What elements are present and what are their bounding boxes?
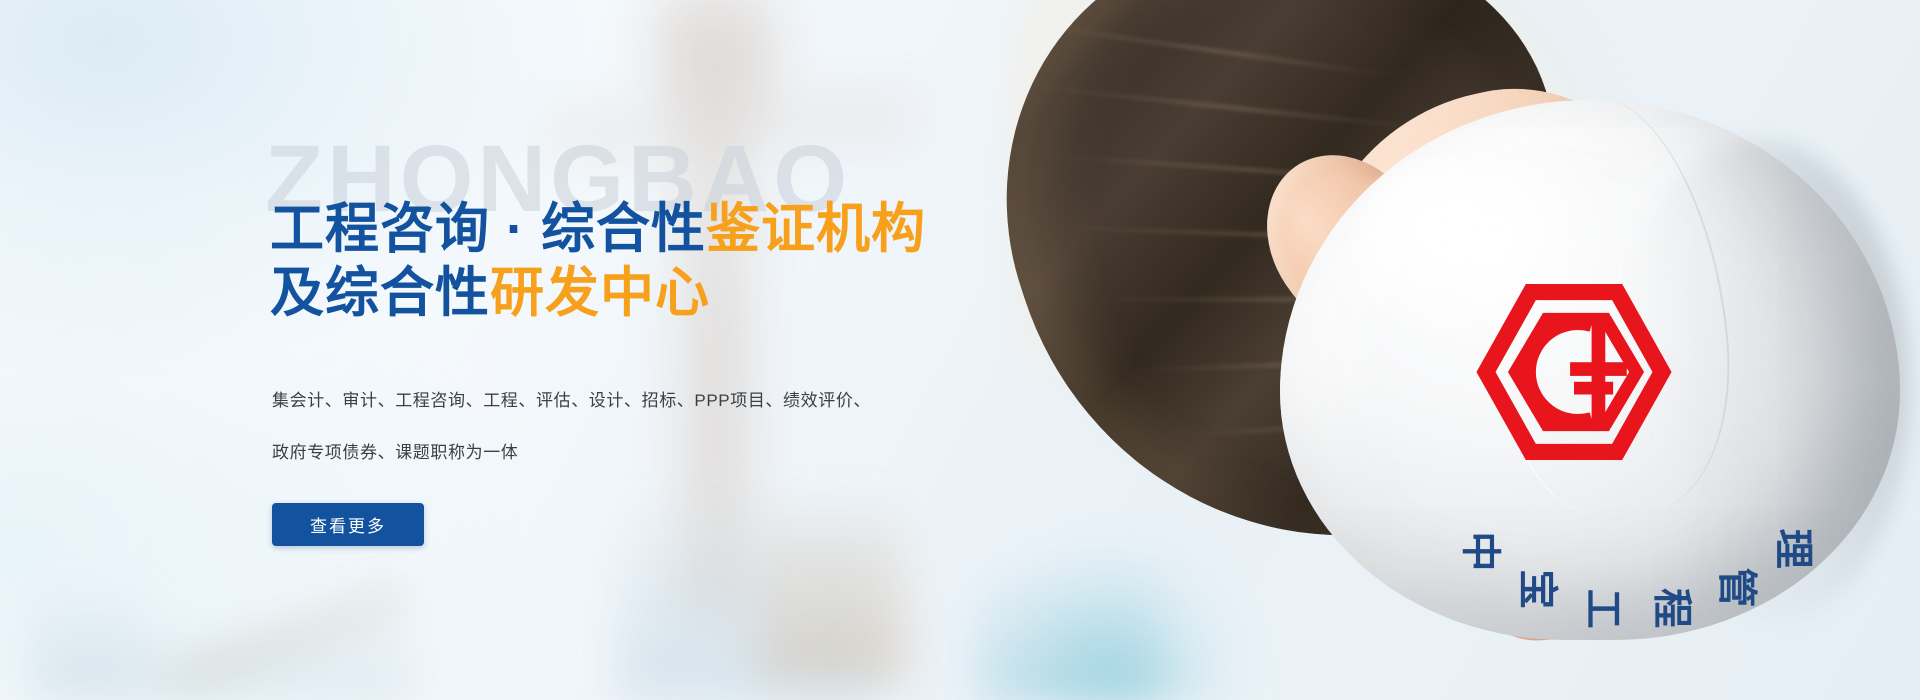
headline-line-1: 工程咨询 · 综合性鉴证机构 [270,198,926,262]
headline-line-1-primary: 工程咨询 · 综合性 [270,199,706,259]
headline-line-2: 及综合性研发中心 [270,262,926,326]
headline-line-1-accent: 鉴证机构 [706,199,926,259]
hero-description: 集会计、审计、工程咨询、工程、评估、设计、招标、PPP项目、绩效评价、 政府专项… [272,388,1012,491]
description-line-1: 集会计、审计、工程咨询、工程、评估、设计、招标、PPP项目、绩效评价、 [272,388,1012,414]
headline-line-2-accent: 研发中心 [490,263,710,323]
headline-line-2-primary: 及综合性 [270,263,490,323]
hero-banner: 中宝工程管理 ZHONGBAO 工程咨询 · 综合性鉴证机构 及综合性研发中心 [0,0,1920,700]
helmet-arc-char: 中 [1455,531,1513,571]
helmet-arc-char: 管 [1712,568,1770,608]
helmet-arc-char: 工 [1578,589,1636,629]
hero-content: ZHONGBAO 工程咨询 · 综合性鉴证机构 及综合性研发中心 集会计、审计、… [270,0,1090,700]
helmet-arc-char: 理 [1768,529,1826,569]
helmet-arc-char: 程 [1646,588,1704,628]
view-more-button[interactable]: 查看更多 [272,503,424,546]
helmet-arc-char: 宝 [1512,569,1570,609]
page-title: 工程咨询 · 综合性鉴证机构 及综合性研发中心 [270,198,926,325]
zhongbao-hexagon-logo [1476,284,1672,460]
description-line-2: 政府专项债券、课题职称为一体 [272,440,1012,466]
hard-hat-icon: 中宝工程管理 [1280,100,1920,660]
